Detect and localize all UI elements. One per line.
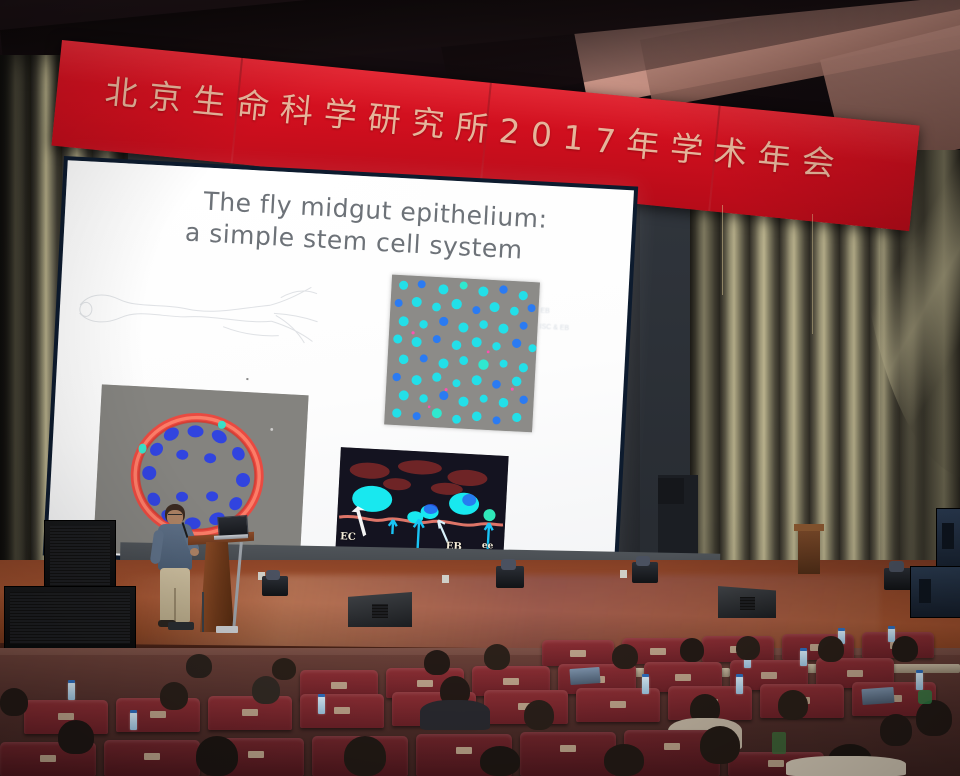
podium-spare (658, 478, 684, 504)
audience-bag (772, 732, 786, 754)
audience-head (736, 636, 760, 660)
presenter-leg-split (174, 588, 176, 622)
speaker-stack-right-bottom (910, 566, 960, 618)
moving-head-light (884, 568, 912, 590)
audience-head (524, 700, 554, 730)
audience-head (604, 744, 644, 776)
audience-head (480, 746, 520, 776)
water-bottle[interactable] (800, 650, 807, 666)
seat-number-plate (675, 674, 691, 681)
audience-head (778, 690, 808, 720)
projection-screen-assembly: The fly midgut epithelium: a simple stem… (43, 156, 638, 586)
presenter-glasses (168, 514, 182, 518)
water-bottle-cap (888, 626, 895, 629)
side-stand-top (794, 524, 824, 531)
projection-screen-surface: The fly midgut epithelium: a simple stem… (47, 160, 634, 582)
audience-head (612, 644, 638, 669)
audience-head (272, 658, 296, 680)
audience-head (484, 644, 510, 670)
moving-head-light (496, 566, 524, 588)
audience-head (680, 638, 704, 662)
water-bottle-cap (838, 628, 845, 631)
audience-head (160, 682, 188, 710)
podium-leg (232, 542, 243, 630)
audience-laptop[interactable] (861, 687, 894, 705)
slide-dust-spot (246, 378, 248, 380)
floor-monitor-wedge (718, 586, 776, 618)
audience-shoulders (786, 756, 906, 776)
seat-number-plate (560, 745, 576, 752)
wall-socket (620, 570, 627, 578)
stage-curtain-left-shadow (0, 55, 46, 625)
audience-head (916, 700, 952, 736)
seat-number-plate (570, 650, 586, 657)
banner-string (722, 205, 723, 295)
figure-label-ec: EC (340, 531, 356, 543)
seat-number-plate (331, 682, 347, 689)
water-bottle[interactable] (130, 712, 137, 730)
seat[interactable] (300, 694, 384, 728)
wedge-grill (740, 597, 755, 610)
water-bottle[interactable] (736, 676, 743, 694)
seat-number-plate (40, 755, 56, 762)
seat-number-plate (242, 709, 258, 716)
water-bottle[interactable] (318, 696, 325, 714)
water-bottle[interactable] (68, 682, 75, 700)
seat[interactable] (116, 698, 200, 732)
stage-floor-cable-box (216, 626, 238, 633)
legend-line-2: ISC & EB (539, 320, 620, 340)
audience-head (700, 726, 740, 764)
speaker-grill (50, 526, 110, 586)
audience-head (818, 636, 844, 662)
moving-head-light-head (501, 559, 516, 570)
seat[interactable] (520, 732, 616, 776)
seat-number-plate (761, 672, 777, 679)
seat[interactable] (542, 640, 614, 666)
moving-head-light (632, 562, 658, 583)
floor-monitor-wedge (348, 592, 412, 627)
audience-head (880, 714, 912, 746)
audience-head (186, 654, 212, 678)
moving-head-light (262, 576, 288, 596)
slide-legend-faint: EB ISC & EB (537, 304, 621, 378)
audience-head (252, 676, 280, 704)
wedge-grill (372, 604, 388, 618)
podium-cable (202, 592, 204, 632)
moving-head-light-head (636, 556, 650, 566)
audience-green-item (918, 690, 932, 704)
micrograph-nuclei-field (384, 275, 540, 433)
water-bottle[interactable] (916, 672, 923, 690)
audience-shoulders (420, 700, 490, 730)
podium (192, 534, 250, 634)
speaker-grill (10, 592, 130, 644)
audience-head (344, 736, 386, 776)
seat-number-plate (650, 648, 666, 655)
seat-number-plate (144, 753, 160, 760)
water-bottle-cap (736, 674, 743, 677)
water-bottle-cap (318, 694, 325, 697)
wall-socket (442, 575, 449, 583)
seat-number-plate (503, 678, 519, 685)
audience-head (0, 688, 28, 716)
water-bottle-cap (916, 670, 923, 673)
side-stand (798, 528, 820, 574)
seat[interactable] (104, 740, 200, 776)
seat-number-plate (58, 713, 74, 720)
banner-string (812, 214, 813, 334)
water-bottle-cap (130, 710, 137, 713)
audience-laptop[interactable] (569, 667, 600, 685)
fly-gut-line-drawing-figure (72, 269, 326, 362)
seat-number-plate (248, 751, 264, 758)
audience-head (196, 736, 238, 776)
audience-head (892, 636, 918, 662)
speaker-grill (942, 523, 954, 549)
audience-head (424, 650, 450, 675)
water-bottle-cap (800, 648, 807, 651)
water-bottle[interactable] (642, 676, 649, 694)
water-bottle-cap (68, 680, 75, 683)
moving-head-light-head (266, 570, 280, 580)
seat-number-plate (417, 680, 433, 687)
audience-head (58, 720, 94, 754)
seat-number-plate (456, 747, 472, 754)
podium-body (200, 542, 234, 632)
seat-number-plate (768, 760, 784, 767)
seat-number-plate (610, 701, 626, 708)
water-bottle-cap (642, 674, 649, 677)
seat-number-plate (847, 670, 863, 677)
speaker-stack-left-bottom (4, 586, 136, 650)
seat[interactable] (208, 696, 292, 730)
auditorium-photo: 北京生命科学研究所2017年学术年会 The fly midgut epithe… (0, 0, 960, 776)
seat-number-plate (150, 711, 166, 718)
moving-head-light-head (889, 561, 904, 572)
seat-number-plate (664, 743, 680, 750)
seat-number-plate (334, 707, 350, 714)
stage-floor-cable-box (168, 622, 194, 630)
speaker-grill (919, 579, 931, 603)
speaker-stack-left-top (44, 520, 116, 592)
